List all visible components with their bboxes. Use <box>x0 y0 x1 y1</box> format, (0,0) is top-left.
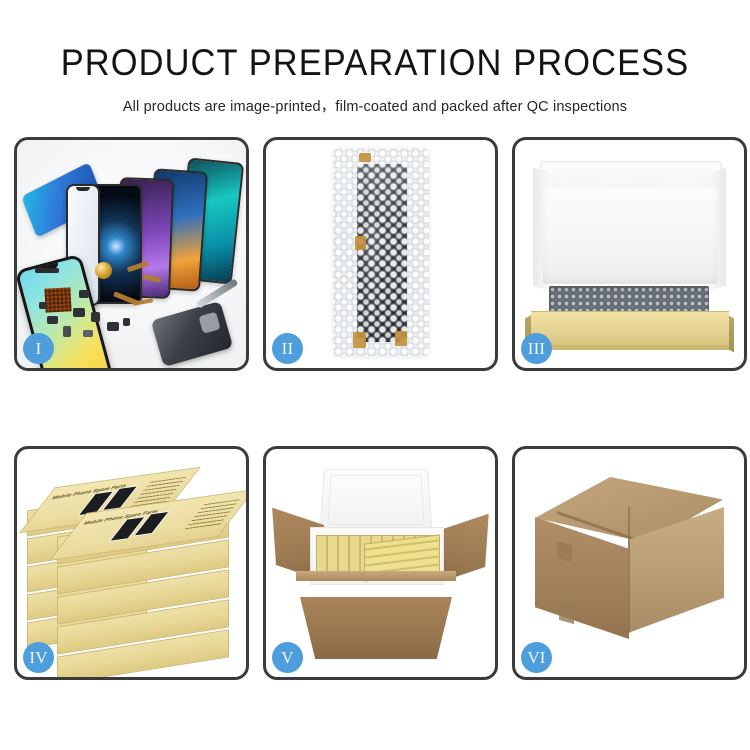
carton-vertical-edge <box>628 507 630 633</box>
small-component <box>73 308 85 317</box>
chip-grid-part <box>44 287 71 312</box>
components-and-screens-photo <box>17 140 246 368</box>
process-panel-4[interactable]: Mobile Phone Spare Parts Mobile Phone Sp… <box>14 446 249 680</box>
carton-tape-mark <box>559 603 574 624</box>
box-bottom-edge <box>531 345 729 350</box>
carton-front-panel <box>300 597 452 659</box>
carton-with-foam-liner-photo <box>266 449 495 677</box>
step-badge-2: II <box>272 333 303 364</box>
product-preparation-page: PRODUCT PREPARATION PROCESS All products… <box>0 0 750 750</box>
step-badge-1: I <box>23 333 54 364</box>
tape-piece <box>359 153 371 162</box>
bubble-wrap-contents <box>549 286 709 312</box>
foam-back-panel <box>543 188 717 284</box>
tape-piece <box>353 332 366 348</box>
box-front-panel <box>531 311 729 346</box>
step-badge-5: V <box>272 642 303 673</box>
step-badge-6: VI <box>521 642 552 673</box>
stacked-retail-boxes-photo: Mobile Phone Spare Parts Mobile Phone Sp… <box>17 449 246 677</box>
foam-lid <box>320 469 433 532</box>
process-panel-2[interactable]: II <box>263 137 498 371</box>
small-component <box>123 318 130 326</box>
tape-piece <box>355 236 366 250</box>
process-panel-1[interactable]: I <box>14 137 249 371</box>
box-stack: Mobile Phone Spare Parts Mobile Phone Sp… <box>17 449 246 677</box>
small-component <box>47 316 58 324</box>
small-component <box>107 322 119 331</box>
tape-piece <box>395 331 407 346</box>
page-title: PRODUCT PREPARATION PROCESS <box>26 0 724 83</box>
step-badge-4: IV <box>23 642 54 673</box>
bubble-wrapped-screen-photo <box>266 140 495 368</box>
box-label-specs <box>184 499 240 530</box>
gold-coil-part <box>95 262 112 279</box>
process-panel-6[interactable]: VI <box>512 446 747 680</box>
process-panel-3[interactable]: III <box>512 137 747 371</box>
sealed-shipping-carton-photo <box>515 449 744 677</box>
page-header: PRODUCT PREPARATION PROCESS All products… <box>0 0 750 116</box>
bubble-wrap-package <box>333 148 429 356</box>
small-component <box>83 330 93 337</box>
small-component <box>63 326 71 337</box>
bubble-texture-offset <box>333 148 429 356</box>
foam-lined-inner-box-photo <box>515 140 744 368</box>
process-panel-5[interactable]: V <box>263 446 498 680</box>
small-component <box>39 302 47 309</box>
speaker-part <box>35 268 59 273</box>
small-component <box>79 290 89 298</box>
small-component <box>91 312 100 322</box>
step-badge-3: III <box>521 333 552 364</box>
process-panel-grid: I II <box>14 137 736 680</box>
page-subtitle: All products are image-printed，film-coat… <box>0 83 750 116</box>
carton-rim <box>296 571 456 581</box>
